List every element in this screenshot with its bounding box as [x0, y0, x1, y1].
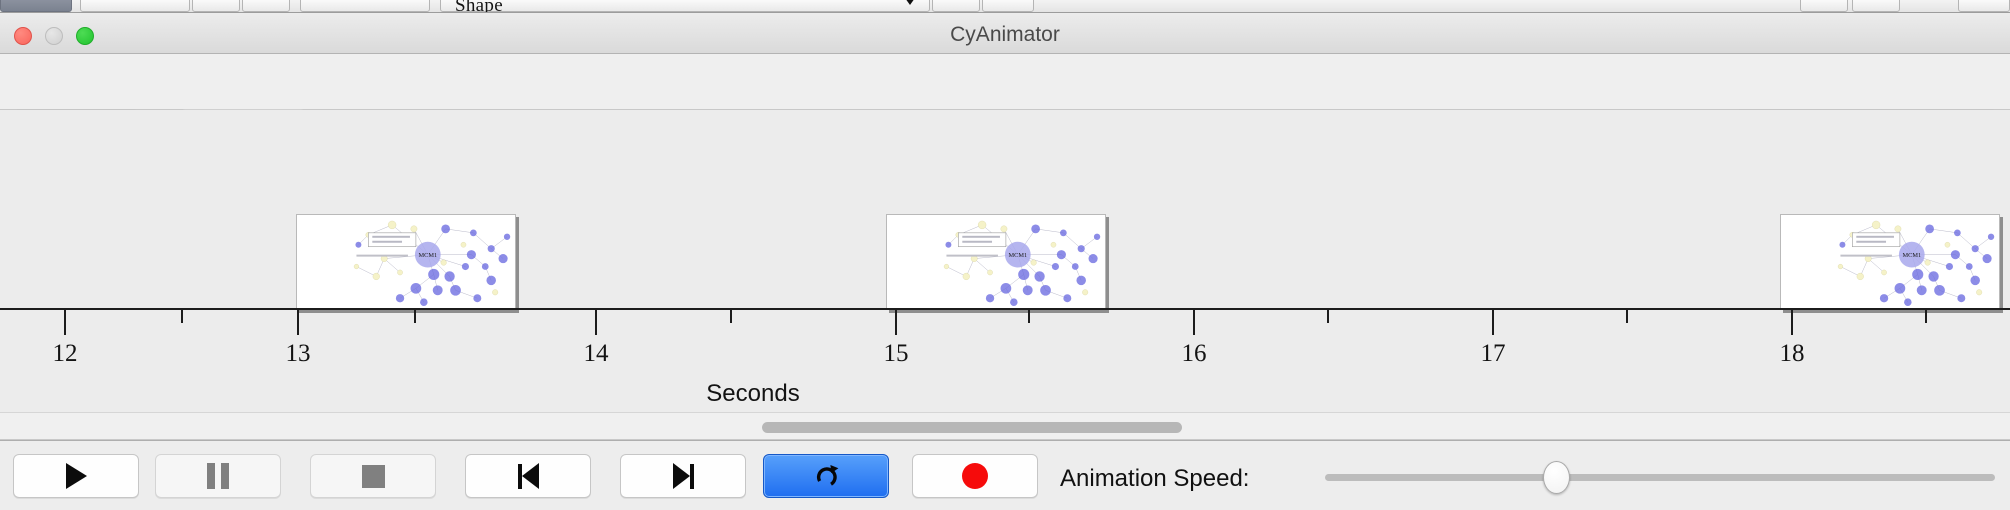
record-button[interactable] [912, 454, 1038, 498]
network-thumbnail: MCM1 [1781, 215, 1999, 310]
axis-tick-major [895, 310, 897, 335]
svg-text:MCM1: MCM1 [418, 252, 437, 259]
axis-tick-label: 16 [1182, 340, 1207, 368]
axis-tick-label: 17 [1481, 340, 1506, 368]
axis-tick-major [595, 310, 597, 335]
axis-tick-major [1791, 310, 1793, 335]
background-toolbar-segment [1958, 0, 2010, 12]
animation-speed-slider[interactable] [1325, 474, 1995, 481]
play-icon [66, 463, 87, 489]
axis-line [0, 308, 2010, 310]
background-toolbar-segment [1852, 0, 1900, 12]
timeline-frame[interactable]: MCM1 [1780, 214, 2000, 310]
animation-speed-label: Animation Speed: [1060, 465, 1249, 493]
svg-text:MCM1: MCM1 [1008, 252, 1027, 259]
page-title: CyAnimator [0, 23, 2010, 47]
frame-toolbar: ✚ Clear All Frames [0, 54, 2010, 110]
background-toolbar-segment [982, 0, 1034, 12]
pause-icon [207, 463, 229, 489]
axis-tick-minor [1327, 310, 1329, 323]
background-toolbar-segment [242, 0, 290, 12]
pause-button[interactable] [155, 454, 281, 498]
slider-thumb[interactable] [1543, 461, 1570, 494]
skip-forward-icon [673, 463, 694, 489]
background-toolbar-segment [1800, 0, 1848, 12]
record-icon [962, 463, 988, 489]
playback-control-bar: Animation Speed: [0, 440, 2010, 510]
network-thumbnail: MCM1 [887, 215, 1105, 310]
axis-title-seconds: Seconds [0, 380, 1758, 408]
axis-tick-label: 15 [884, 340, 909, 368]
axis-tick-major [1492, 310, 1494, 335]
background-toolbar-segment [80, 0, 190, 12]
next-frame-button[interactable] [620, 454, 746, 498]
axis-tick-minor [1626, 310, 1628, 323]
axis-tick-minor [181, 310, 183, 323]
background-toolbar-segment [192, 0, 240, 12]
scrollbar-thumb[interactable] [762, 422, 1182, 433]
slider-track[interactable] [1325, 474, 1995, 481]
timeline-scrollbar[interactable] [0, 412, 2010, 440]
axis-tick-label: 12 [53, 340, 78, 368]
background-toolbar-segment [300, 0, 430, 12]
timeline-panel[interactable]: MCM1MCM1MCM1 12131415161718 Seconds [0, 110, 2010, 412]
background-toolbar-segment [0, 0, 72, 12]
axis-tick-minor [1028, 310, 1030, 323]
background-caret-icon [905, 0, 915, 5]
background-window-strip: Shape [0, 0, 2010, 13]
skip-back-icon [518, 463, 539, 489]
timeline-frame[interactable]: MCM1 [886, 214, 1106, 310]
axis-tick-minor [414, 310, 416, 323]
stop-icon [362, 465, 385, 488]
axis-tick-major [64, 310, 66, 335]
timeline-axis: 12131415161718 Seconds [0, 308, 2010, 412]
background-toolbar-segment [440, 0, 930, 12]
stop-button[interactable] [310, 454, 436, 498]
background-toolbar-segment [932, 0, 980, 12]
svg-text:MCM1: MCM1 [1902, 252, 1921, 259]
background-window-label: Shape [455, 0, 503, 13]
axis-tick-label: 13 [286, 340, 311, 368]
axis-tick-minor [730, 310, 732, 323]
network-thumbnail: MCM1 [297, 215, 515, 310]
axis-tick-minor [1925, 310, 1927, 323]
background-toolbar-segments [0, 0, 2010, 13]
axis-tick-label: 18 [1780, 340, 1805, 368]
loop-icon [811, 461, 841, 491]
loop-button[interactable] [763, 454, 889, 498]
play-button[interactable] [13, 454, 139, 498]
axis-tick-label: 14 [584, 340, 609, 368]
axis-tick-major [297, 310, 299, 335]
timeline-frame[interactable]: MCM1 [296, 214, 516, 310]
axis-tick-major [1193, 310, 1195, 335]
previous-frame-button[interactable] [465, 454, 591, 498]
window-titlebar: CyAnimator [0, 13, 2010, 54]
